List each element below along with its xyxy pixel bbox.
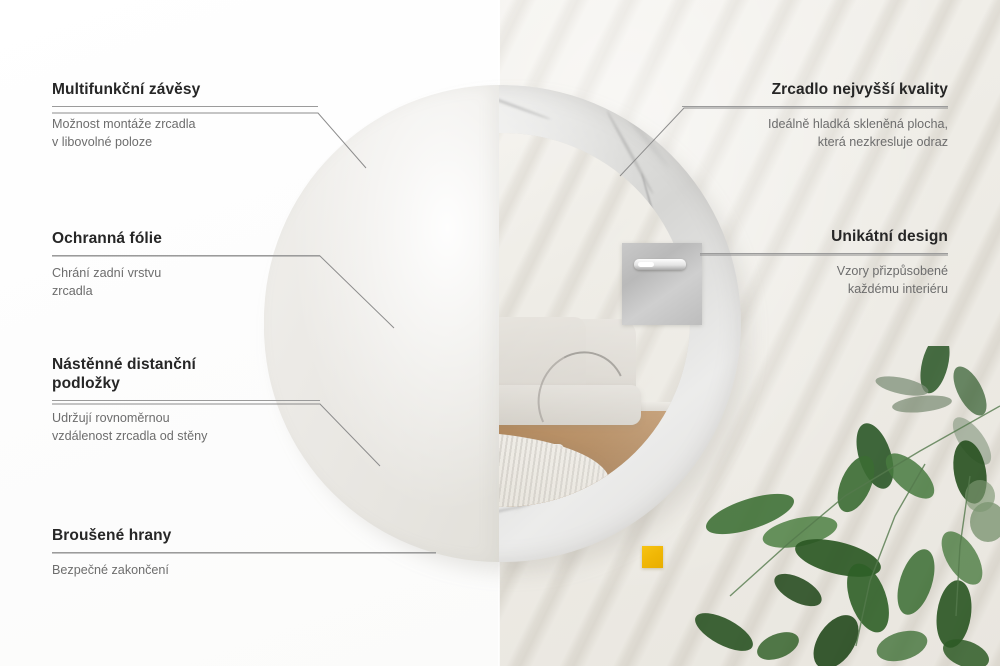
feature-desc: Udržují rovnoměrnou vzdálenost zrcadla o…: [52, 410, 320, 445]
feature-desc: Bezpečné zakončení: [52, 562, 436, 580]
feature-rule: [52, 552, 436, 553]
feature-rule: [52, 106, 318, 107]
feature-desc: Vzory přizpůsobené každému interiéru: [700, 263, 948, 298]
feature-rule: [700, 253, 948, 254]
feature-brousene-hrany: Broušené hrany Bezpečné zakončení: [52, 526, 436, 580]
feature-title: Ochranná fólie: [52, 229, 320, 248]
feature-rule: [682, 106, 948, 107]
feature-title: Nástěnné distanční podložky: [52, 355, 320, 393]
wall-spacer: [642, 546, 663, 568]
feature-desc: Možnost montáže zrcadla v libovolné polo…: [52, 116, 318, 151]
infographic-stage: Multifunkční závěsy Možnost montáže zrca…: [0, 0, 1000, 666]
feature-desc: Chrání zadní vrstvu zrcadla: [52, 265, 320, 300]
feature-ochranna-folie: Ochranná fólie Chrání zadní vrstvu zrcad…: [52, 229, 320, 300]
feature-rule: [52, 255, 320, 256]
feature-desc: Ideálně hladká skleněná plocha, která ne…: [682, 116, 948, 151]
feature-nastenne-distancni-podlozky: Nástěnné distanční podložky Udržují rovn…: [52, 355, 320, 445]
feature-title: Broušené hrany: [52, 526, 436, 545]
feature-zrcadlo-nejvyssi-kvality: Zrcadlo nejvyšší kvality Ideálně hladká …: [682, 80, 948, 151]
feature-multifunkcni-zavesy: Multifunkční závěsy Možnost montáže zrca…: [52, 80, 318, 151]
mirror-back-side: [264, 85, 499, 562]
hanger-slot: [634, 259, 686, 270]
feature-rule: [52, 400, 320, 401]
hanger-plate: [622, 243, 702, 325]
feature-title: Multifunkční závěsy: [52, 80, 318, 99]
feature-title: Unikátní design: [700, 227, 948, 246]
mirror-product: [264, 85, 741, 562]
feature-title: Zrcadlo nejvyšší kvality: [682, 80, 948, 99]
feature-unikatni-design: Unikátní design Vzory přizpůsobené každé…: [700, 227, 948, 298]
